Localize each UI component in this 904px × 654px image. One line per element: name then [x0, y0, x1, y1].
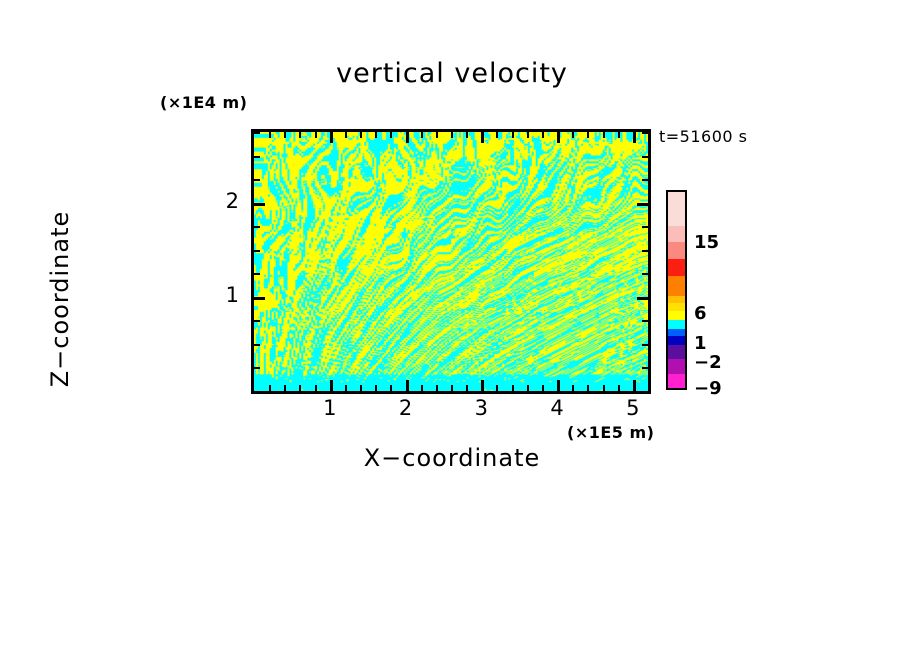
x-tick-top [481, 132, 484, 143]
y-tick-label: 1 [209, 283, 239, 307]
x-tick-bottom [512, 385, 514, 391]
y-tick-right [642, 132, 648, 134]
x-axis-unit-label: (×1E5 m) [567, 423, 654, 442]
y-tick-right [642, 320, 648, 322]
colorbar-tick-label: 1 [694, 333, 707, 354]
x-tick-top [648, 132, 650, 138]
colorbar-band [668, 259, 685, 277]
velocity-field-heatmap [254, 132, 648, 391]
y-axis-unit-label: (×1E4 m) [160, 93, 247, 112]
y-tick-label: 2 [209, 189, 239, 213]
y-axis-label: Z−coordinate [46, 149, 74, 449]
x-tick-top [330, 132, 333, 143]
colorbar-tick-label: 15 [694, 232, 719, 253]
x-tick-top [512, 132, 514, 138]
colorbar-band [668, 345, 685, 359]
y-tick-right [637, 297, 648, 300]
y-tick-left [254, 297, 265, 300]
x-tick-top [421, 132, 423, 138]
x-tick-top [375, 132, 377, 138]
x-tick-bottom [587, 385, 589, 391]
y-tick-right [642, 344, 648, 346]
colorbar-band [668, 359, 685, 373]
x-tick-top [360, 132, 362, 138]
y-tick-right [637, 203, 648, 206]
colorbar-band [668, 336, 685, 345]
x-tick-top [299, 132, 301, 138]
x-tick-bottom [527, 385, 529, 391]
colorbar-band [668, 192, 685, 226]
x-tick-bottom [481, 380, 484, 391]
colorbar-tick-label: 6 [694, 303, 707, 324]
x-tick-top [284, 132, 286, 138]
y-tick-right [642, 156, 648, 158]
x-tick-bottom [496, 385, 498, 391]
y-tick-left [254, 179, 260, 181]
x-tick-top [603, 132, 605, 138]
x-tick-bottom [406, 380, 409, 391]
x-tick-bottom [315, 385, 317, 391]
x-tick-bottom [542, 385, 544, 391]
colorbar-band [668, 296, 685, 303]
x-tick-top [587, 132, 589, 138]
x-tick-bottom [421, 385, 423, 391]
x-tick-bottom [299, 385, 301, 391]
colorbar-band [668, 320, 685, 329]
x-tick-bottom [345, 385, 347, 391]
colorbar-band [668, 303, 685, 310]
x-tick-top [436, 132, 438, 138]
y-tick-left [254, 132, 260, 134]
plot-area [251, 129, 651, 394]
x-tick-bottom [618, 385, 620, 391]
x-tick-bottom [557, 380, 560, 391]
x-tick-label: 4 [542, 396, 572, 420]
x-tick-bottom [633, 380, 636, 391]
y-tick-left [254, 203, 265, 206]
colorbar-band [668, 276, 685, 296]
x-tick-bottom [451, 385, 453, 391]
y-tick-right [642, 367, 648, 369]
time-annotation: t=51600 s [659, 127, 748, 146]
x-tick-top [527, 132, 529, 138]
y-tick-right [642, 250, 648, 252]
x-tick-label: 3 [466, 396, 496, 420]
y-tick-left [254, 344, 260, 346]
x-tick-top [466, 132, 468, 138]
x-tick-bottom [436, 385, 438, 391]
colorbar [666, 190, 687, 390]
y-tick-right [642, 179, 648, 181]
x-tick-label: 1 [315, 396, 345, 420]
x-tick-bottom [648, 385, 650, 391]
x-tick-bottom [603, 385, 605, 391]
x-tick-bottom [360, 385, 362, 391]
colorbar-band [668, 374, 685, 388]
x-tick-top [572, 132, 574, 138]
figure-canvas: vertical velocity (×1E4 m) t=51600 s 123… [0, 0, 904, 654]
x-tick-top [345, 132, 347, 138]
colorbar-band [668, 226, 685, 242]
x-tick-top [618, 132, 620, 138]
y-tick-left [254, 156, 260, 158]
x-tick-bottom [466, 385, 468, 391]
x-tick-bottom [269, 385, 271, 391]
y-tick-right [642, 226, 648, 228]
y-tick-left [254, 250, 260, 252]
x-tick-top [542, 132, 544, 138]
colorbar-tick-label: −9 [694, 378, 722, 399]
colorbar-tick-label: −2 [694, 352, 722, 373]
x-tick-top [315, 132, 317, 138]
x-tick-label: 5 [618, 396, 648, 420]
page-title: vertical velocity [0, 58, 904, 89]
x-tick-top [496, 132, 498, 138]
x-tick-top [390, 132, 392, 138]
x-tick-bottom [572, 385, 574, 391]
colorbar-band [668, 329, 685, 336]
x-axis-label: X−coordinate [0, 444, 904, 472]
x-tick-bottom [375, 385, 377, 391]
y-tick-left [254, 273, 260, 275]
x-tick-bottom [390, 385, 392, 391]
x-tick-bottom [330, 380, 333, 391]
x-tick-top [633, 132, 636, 143]
x-tick-top [451, 132, 453, 138]
x-tick-top [557, 132, 560, 143]
colorbar-band [668, 311, 685, 320]
x-tick-bottom [284, 385, 286, 391]
x-tick-top [406, 132, 409, 143]
y-tick-right [642, 273, 648, 275]
x-tick-top [269, 132, 271, 138]
y-tick-left [254, 367, 260, 369]
y-tick-left [254, 226, 260, 228]
x-tick-label: 2 [391, 396, 421, 420]
y-tick-left [254, 320, 260, 322]
colorbar-band [668, 242, 685, 258]
